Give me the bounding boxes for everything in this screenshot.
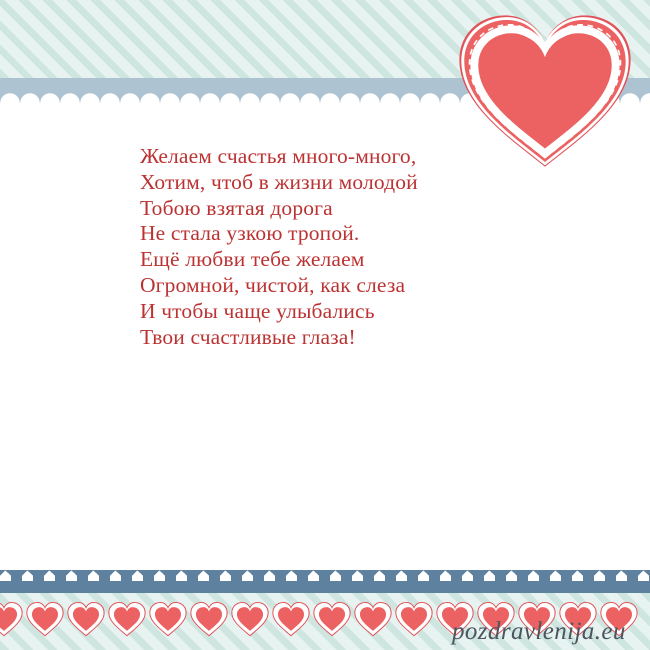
poem-line: Ещё любви тебе желаем [140, 247, 560, 273]
poem-line: И чтобы чаще улыбались [140, 299, 560, 325]
poem-line: Огромной, чистой, как слеза [140, 273, 560, 299]
bottom-blue-bar [0, 581, 650, 593]
poem-line: Желаем счастья много-много, [140, 144, 560, 170]
poem-text-block: Желаем счастья много-много, Хотим, чтоб … [140, 144, 560, 350]
poem-line: Не стала узкою тропой. [140, 221, 560, 247]
poem-line: Тобою взятая дорога [140, 196, 560, 222]
greeting-card: Желаем счастья много-много, Хотим, чтоб … [0, 0, 650, 650]
poem-line: Хотим, чтоб в жизни молодой [140, 170, 560, 196]
watermark-label: pozdravlenija.eu [452, 618, 626, 646]
poem-line: Твои счастливые глаза! [140, 325, 560, 351]
